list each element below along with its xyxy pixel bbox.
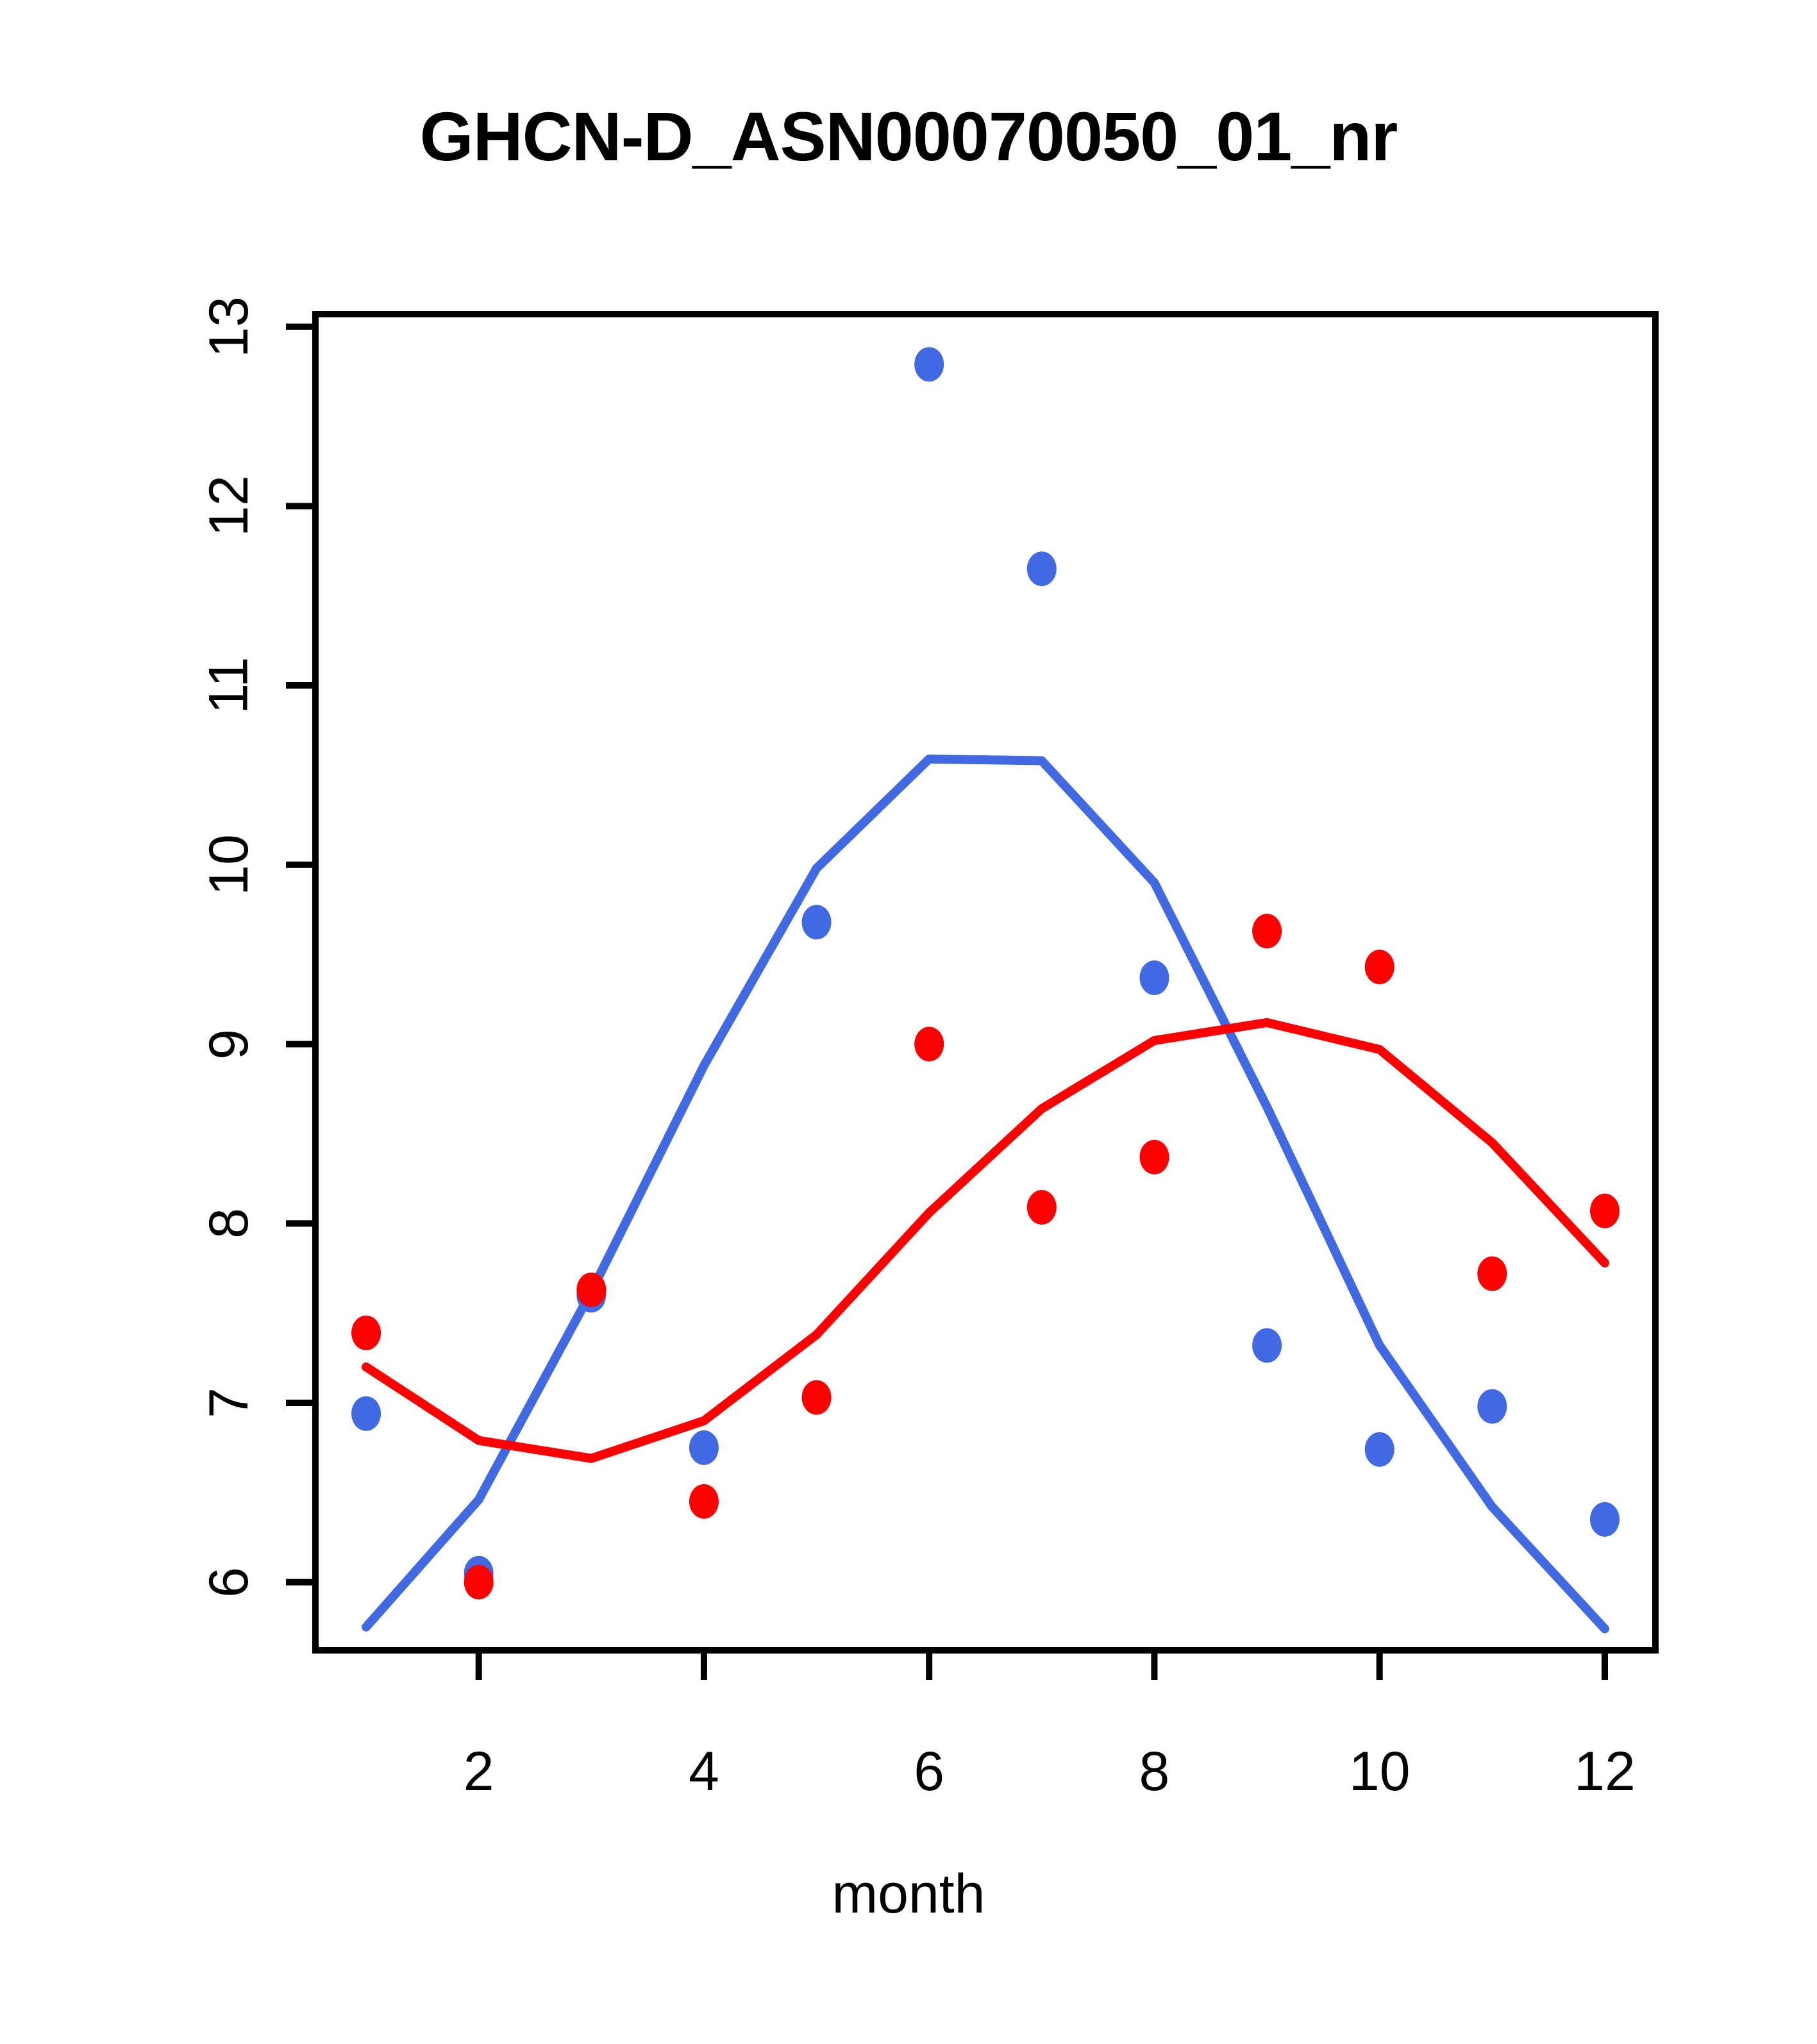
data-point-blue-points — [802, 905, 832, 939]
y-axis-tick-label-text: 10 — [197, 834, 261, 896]
x-axis-tick-label: 12 — [1574, 1740, 1636, 1804]
data-point-red-points — [576, 1273, 606, 1307]
data-point-blue-points — [1477, 1389, 1507, 1424]
y-axis-tick-label: 8 — [194, 1191, 264, 1255]
plot-area — [0, 0, 1817, 2044]
x-axis-tick-label: 4 — [689, 1740, 719, 1804]
data-point-blue-points — [689, 1430, 719, 1465]
data-point-red-points — [802, 1380, 832, 1415]
data-point-red-points — [1027, 1190, 1057, 1225]
x-axis-label: month — [0, 1863, 1817, 1926]
data-point-blue-points — [1252, 1328, 1282, 1362]
y-axis-tick-label: 10 — [194, 833, 264, 897]
data-point-red-points — [1590, 1194, 1620, 1228]
y-axis-tick-label-text: 13 — [197, 296, 261, 358]
x-axis-tick-label: 8 — [1139, 1740, 1170, 1804]
data-point-blue-points — [1139, 960, 1169, 995]
data-point-red-points — [689, 1484, 719, 1519]
series-line-blue-line — [366, 759, 1605, 1629]
data-point-red-points — [351, 1316, 381, 1350]
y-axis-tick-label: 12 — [194, 474, 264, 538]
x-axis-tick-label: 2 — [464, 1740, 494, 1804]
data-point-blue-points — [1590, 1502, 1620, 1537]
data-point-blue-points — [914, 347, 944, 381]
series-line-red-line — [366, 1023, 1605, 1459]
data-series-group — [351, 347, 1620, 1629]
data-point-red-points — [1365, 950, 1394, 984]
y-axis-tick-label-text: 9 — [197, 1029, 261, 1060]
chart-canvas: GHCN-D_ASN00070050_01_nr 678910111213 24… — [0, 0, 1817, 2044]
data-point-red-points — [1139, 1140, 1169, 1175]
y-axis-tick-label-text: 8 — [197, 1208, 261, 1239]
y-axis-tick-label-text: 12 — [197, 475, 261, 537]
y-axis-tick-label: 6 — [194, 1550, 264, 1614]
data-point-red-points — [464, 1565, 494, 1600]
y-axis-tick-label-text: 7 — [197, 1387, 261, 1418]
x-axis-tick-label: 10 — [1349, 1740, 1411, 1804]
data-point-blue-points — [351, 1396, 381, 1431]
y-axis-tick-label: 9 — [194, 1012, 264, 1076]
data-point-red-points — [1252, 914, 1282, 948]
y-axis-tick-label-text: 11 — [197, 657, 261, 714]
y-axis-tick-label: 7 — [194, 1371, 264, 1435]
y-axis-tick-label-text: 6 — [197, 1567, 261, 1598]
data-point-blue-points — [1365, 1432, 1394, 1467]
data-point-red-points — [1477, 1257, 1507, 1291]
data-point-red-points — [914, 1027, 944, 1062]
data-point-blue-points — [1027, 551, 1057, 586]
y-axis-tick-label: 13 — [194, 295, 264, 359]
x-axis-tick-label: 6 — [914, 1740, 944, 1804]
y-axis-tick-label: 11 — [194, 653, 264, 717]
